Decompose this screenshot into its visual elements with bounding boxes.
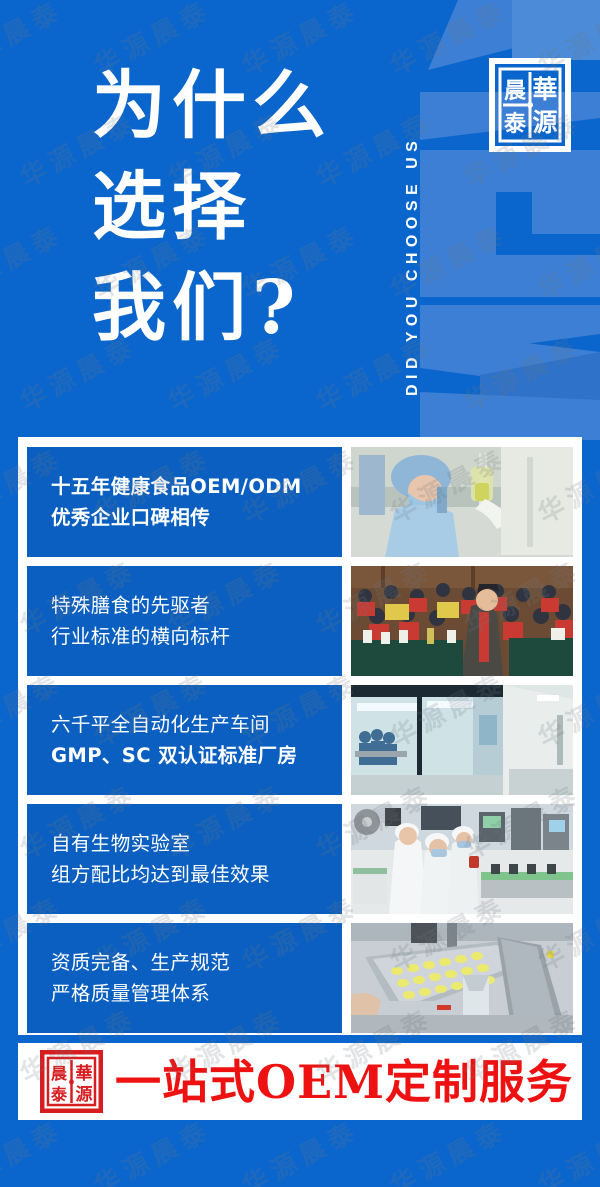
- svg-text:源: 源: [532, 108, 557, 137]
- watermark-text: 华源晨泰: [0, 1110, 69, 1187]
- company-seal-logo-red: 華 源 晨 泰: [40, 1050, 103, 1113]
- svg-text:華: 華: [76, 1064, 93, 1084]
- title-line-2: 选择: [92, 157, 382, 258]
- list-item[interactable]: 自有生物实验室 组方配比均达到最佳效果: [27, 804, 573, 914]
- list-item[interactable]: 资质完备、生产规范 严格质量管理体系: [27, 923, 573, 1033]
- vertical-tagline: DID YOU CHOOSE US: [404, 28, 422, 396]
- feature-text-1: 十五年健康食品OEM/ODM 优秀企业口碑相传: [27, 447, 342, 557]
- feature-text-4: 自有生物实验室 组方配比均达到最佳效果: [27, 804, 342, 914]
- company-seal-logo-white: 華 源 晨 泰: [489, 58, 571, 152]
- poster-root: 为什么 选择 我们? DID YOU CHOOSE US 華 源 晨 泰: [0, 0, 600, 1187]
- watermark-text: 华源晨泰: [531, 1110, 600, 1187]
- features-frame: 十五年健康食品OEM/ODM 优秀企业口碑相传: [18, 437, 582, 1035]
- tablet-blister-packaging-machine-photo: [351, 923, 573, 1033]
- svg-text:泰: 泰: [50, 1085, 68, 1104]
- feature-line: 严格质量管理体系: [51, 978, 342, 1009]
- svg-text:晨: 晨: [504, 78, 527, 104]
- feature-line: 行业标准的横向标杆: [51, 621, 342, 652]
- bottom-banner: 華 源 晨 泰 一站式OEM定制服务: [18, 1043, 582, 1120]
- svg-text:晨: 晨: [51, 1064, 68, 1083]
- feature-line: 优秀企业口碑相传: [51, 502, 342, 533]
- title-line-1: 为什么: [92, 56, 382, 157]
- banner-slogan: 一站式OEM定制服务: [115, 1059, 573, 1105]
- lab-technician-inspecting-vial-photo: [351, 447, 573, 557]
- header-section: 为什么 选择 我们? DID YOU CHOOSE US 華 源 晨 泰: [0, 0, 600, 440]
- watermark-text: 华源晨泰: [87, 1110, 217, 1187]
- watermark-text: 华源晨泰: [383, 1110, 513, 1187]
- list-item[interactable]: 十五年健康食品OEM/ODM 优秀企业口碑相传: [27, 447, 573, 557]
- watermark-text: 华源晨泰: [235, 1110, 365, 1187]
- svg-text:泰: 泰: [503, 111, 527, 137]
- feature-text-5: 资质完备、生产规范 严格质量管理体系: [27, 923, 342, 1033]
- feature-text-2: 特殊膳食的先驱者 行业标准的横向标杆: [27, 566, 342, 676]
- svg-text:華: 華: [532, 75, 557, 104]
- list-item[interactable]: 特殊膳食的先驱者 行业标准的横向标杆: [27, 566, 573, 676]
- conference-audience-hall-photo: [351, 566, 573, 676]
- workers-on-packaging-line-photo: [351, 804, 573, 914]
- feature-line: 特殊膳食的先驱者: [51, 590, 342, 621]
- feature-line: GMP、SC 双认证标准厂房: [51, 740, 342, 771]
- feature-line: 自有生物实验室: [51, 828, 342, 859]
- feature-line: 十五年健康食品OEM/ODM: [51, 471, 342, 502]
- svg-text:源: 源: [76, 1084, 93, 1105]
- title-line-3: 我们?: [92, 258, 382, 359]
- feature-text-3: 六千平全自动化生产车间 GMP、SC 双认证标准厂房: [27, 685, 342, 795]
- features-list: 十五年健康食品OEM/ODM 优秀企业口碑相传: [27, 447, 573, 1025]
- feature-line: 六千平全自动化生产车间: [51, 709, 342, 740]
- page-title: 为什么 选择 我们?: [92, 56, 382, 359]
- feature-line: 组方配比均达到最佳效果: [51, 859, 342, 890]
- feature-line: 资质完备、生产规范: [51, 947, 342, 978]
- clean-room-production-corridor-photo: [351, 685, 573, 795]
- list-item[interactable]: 六千平全自动化生产车间 GMP、SC 双认证标准厂房: [27, 685, 573, 795]
